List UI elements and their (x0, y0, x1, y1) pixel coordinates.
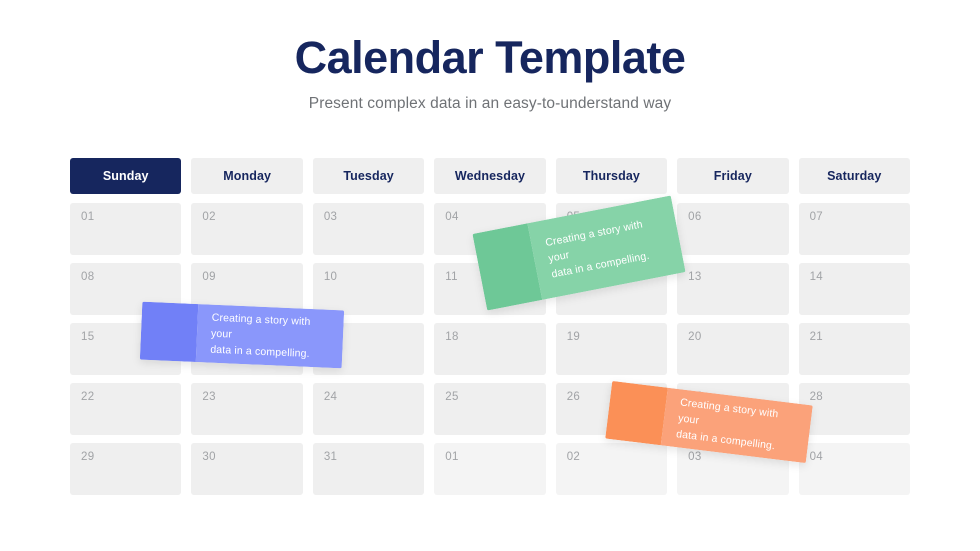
day-number: 15 (81, 331, 94, 343)
day-number: 24 (324, 391, 337, 403)
day-cell[interactable]: 14 (799, 263, 910, 315)
day-number: 29 (81, 451, 94, 463)
day-cell[interactable]: 06 (677, 203, 788, 255)
day-header-monday[interactable]: Monday (191, 158, 302, 194)
day-number: 13 (688, 271, 701, 283)
day-number: 25 (445, 391, 458, 403)
day-number: 22 (81, 391, 94, 403)
day-number: 04 (445, 211, 458, 223)
title-block: Calendar Template Present complex data i… (0, 34, 980, 113)
day-cell[interactable]: 23 (191, 383, 302, 435)
day-header-friday[interactable]: Friday (677, 158, 788, 194)
day-cell[interactable]: 18 (434, 323, 545, 375)
note-line-1: Creating a story with your (211, 311, 311, 340)
page-title: Calendar Template (0, 34, 980, 81)
day-header-tuesday[interactable]: Tuesday (313, 158, 424, 194)
note-accent-tab (605, 381, 668, 445)
day-cell[interactable]: 01 (70, 203, 181, 255)
day-header-saturday[interactable]: Saturday (799, 158, 910, 194)
day-cell[interactable]: 29 (70, 443, 181, 495)
day-cell[interactable]: 28 (799, 383, 910, 435)
note-text: Creating a story with your data in a com… (210, 309, 328, 363)
note-body: Creating a story with your data in a com… (196, 304, 344, 368)
day-number: 01 (81, 211, 94, 223)
day-cell[interactable]: 01 (434, 443, 545, 495)
day-cell[interactable]: 21 (799, 323, 910, 375)
day-number: 19 (567, 331, 580, 343)
note-line-2: data in a compelling. (210, 344, 310, 360)
day-cell[interactable]: 25 (434, 383, 545, 435)
day-number: 20 (688, 331, 701, 343)
day-number: 10 (324, 271, 337, 283)
note-line-1: Creating a story with your (678, 396, 780, 427)
day-header-label: Thursday (583, 169, 640, 183)
note-text: Creating a story with your data in a com… (675, 394, 796, 457)
day-number: 30 (202, 451, 215, 463)
day-cell[interactable]: 10 (313, 263, 424, 315)
day-number: 09 (202, 271, 215, 283)
day-header-label: Monday (223, 169, 271, 183)
day-number: 14 (810, 271, 823, 283)
day-number: 26 (567, 391, 580, 403)
day-number: 02 (567, 451, 580, 463)
day-number: 21 (810, 331, 823, 343)
day-number: 07 (810, 211, 823, 223)
day-cell[interactable]: 30 (191, 443, 302, 495)
day-header-wednesday[interactable]: Wednesday (434, 158, 545, 194)
day-header-thursday[interactable]: Thursday (556, 158, 667, 194)
day-header-label: Wednesday (455, 169, 525, 183)
note-text: Creating a story with your data in a com… (544, 213, 667, 283)
day-cell[interactable]: 24 (313, 383, 424, 435)
day-number: 18 (445, 331, 458, 343)
day-cell[interactable]: 03 (313, 203, 424, 255)
note-line-2: data in a compelling. (676, 428, 776, 452)
page-subtitle: Present complex data in an easy-to-under… (0, 95, 980, 113)
slide-canvas: Calendar Template Present complex data i… (0, 0, 980, 551)
day-number: 31 (324, 451, 337, 463)
day-cell[interactable]: 20 (677, 323, 788, 375)
day-cell[interactable]: 07 (799, 203, 910, 255)
event-note-blue[interactable]: Creating a story with your data in a com… (140, 302, 344, 369)
day-cell[interactable]: 02 (191, 203, 302, 255)
day-number: 01 (445, 451, 458, 463)
day-number: 23 (202, 391, 215, 403)
day-header-sunday[interactable]: Sunday (70, 158, 181, 194)
day-cell[interactable]: 31 (313, 443, 424, 495)
day-header-label: Saturday (827, 169, 881, 183)
day-number: 04 (810, 451, 823, 463)
day-header-label: Tuesday (343, 169, 394, 183)
day-cell[interactable]: 04 (799, 443, 910, 495)
day-number: 03 (688, 451, 701, 463)
day-cell[interactable]: 02 (556, 443, 667, 495)
day-number: 03 (324, 211, 337, 223)
day-number: 02 (202, 211, 215, 223)
day-cell[interactable]: 22 (70, 383, 181, 435)
day-header-label: Sunday (103, 169, 149, 183)
calendar-header-row: Sunday Monday Tuesday Wednesday Thursday… (70, 158, 910, 194)
day-number: 28 (810, 391, 823, 403)
day-cell[interactable]: 19 (556, 323, 667, 375)
day-number: 08 (81, 271, 94, 283)
day-cell[interactable]: 13 (677, 263, 788, 315)
day-header-label: Friday (714, 169, 752, 183)
day-number: 06 (688, 211, 701, 223)
day-number: 11 (445, 271, 458, 283)
note-accent-tab (140, 302, 198, 362)
